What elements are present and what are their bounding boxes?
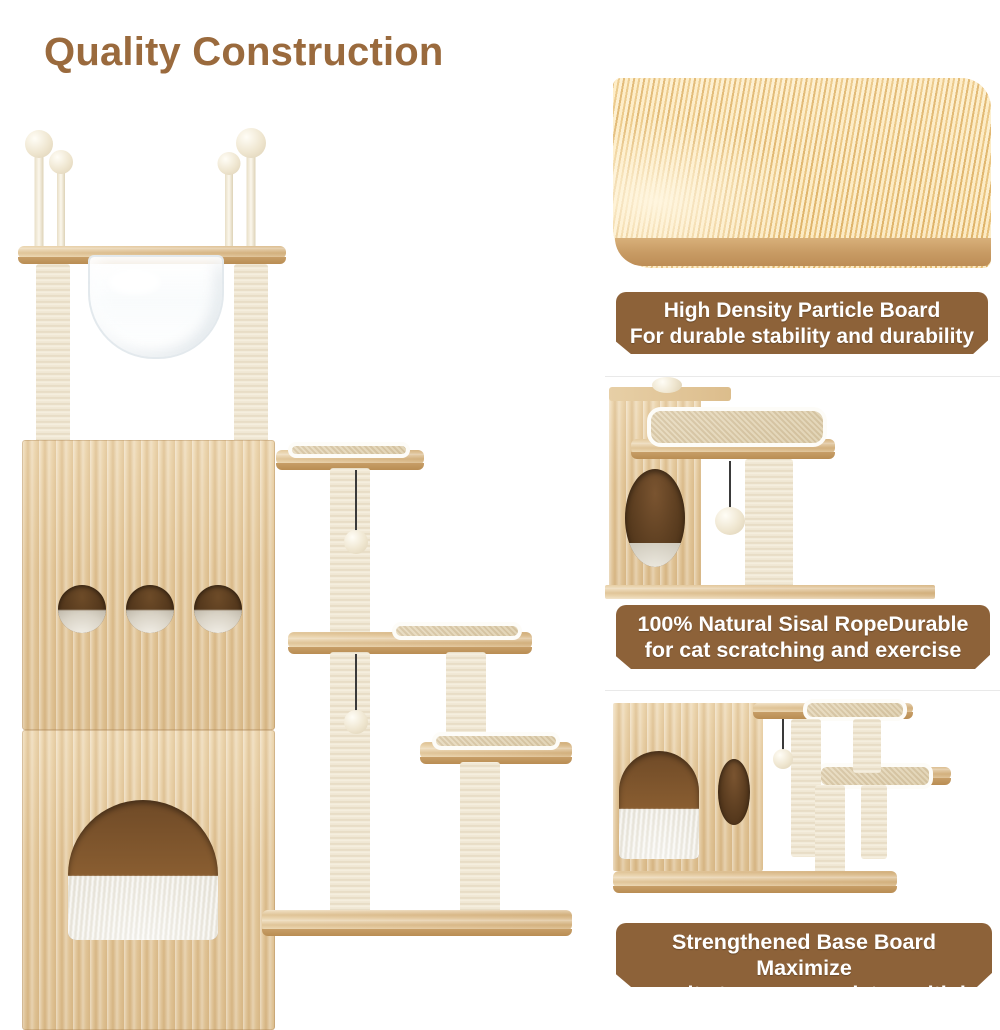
- upper-condo: [22, 440, 275, 730]
- carpet-pad: [647, 407, 827, 447]
- pompom-toy: [216, 152, 242, 254]
- base-strip: [605, 585, 935, 599]
- hanging-toy: [344, 654, 368, 744]
- plush-cushion: [619, 809, 699, 859]
- base-edge: [613, 886, 897, 893]
- toy-string: [355, 654, 357, 712]
- lower-condo: [22, 730, 275, 1030]
- pompom-toy: [48, 150, 74, 255]
- main-product-image: [0, 120, 600, 995]
- toy-ball: [344, 710, 368, 734]
- sisal-post: [36, 264, 70, 444]
- carpet-pad: [392, 622, 522, 640]
- hanging-toy: [773, 719, 793, 779]
- toy-ball: [218, 152, 241, 175]
- toy-ball: [773, 749, 793, 769]
- dome-highlight: [108, 269, 161, 295]
- play-hole: [58, 585, 106, 633]
- carpet-pad: [432, 732, 560, 750]
- panel-particle-board: High Density Particle Board For durable …: [605, 60, 1000, 375]
- condo-entrance: [619, 751, 699, 859]
- hanging-toy: [344, 470, 368, 560]
- toy-stem: [225, 167, 233, 255]
- base-board: [613, 871, 897, 893]
- sisal-post: [853, 719, 881, 773]
- base-surface: [262, 910, 572, 931]
- caption-line-1: 100% Natural Sisal RopeDurable: [624, 611, 982, 637]
- play-hole: [194, 585, 242, 633]
- caption-line-1: Strengthened Base Board Maximize: [624, 929, 984, 981]
- play-hole: [126, 585, 174, 633]
- sisal-closeup-image: [605, 377, 1000, 605]
- entrance-fur: [625, 543, 685, 568]
- carpet-pad: [803, 699, 907, 721]
- base-closeup-image: [605, 691, 1000, 919]
- toy-ball: [344, 530, 368, 554]
- board-closeup-image: [613, 78, 991, 268]
- acrylic-dome-bed: [88, 255, 224, 359]
- oval-entrance: [625, 469, 685, 567]
- platform-edge: [288, 647, 532, 654]
- caption-line-2: For durable stability and durability: [624, 324, 980, 350]
- panel-base-board: Strengthened Base Board Maximize securit…: [605, 691, 1000, 995]
- toy-stem: [35, 148, 44, 252]
- hanging-toy: [715, 461, 745, 545]
- toy-stem: [57, 166, 65, 256]
- platform-edge: [631, 452, 835, 459]
- toy-ball: [652, 377, 682, 393]
- toy-string: [782, 719, 784, 751]
- caption-line-2: for cat scratching and exercise: [624, 637, 982, 663]
- condo-entrance: [68, 800, 218, 940]
- toy-string: [729, 461, 731, 509]
- hole-fur: [194, 610, 242, 633]
- plush-cushion: [68, 876, 218, 940]
- sisal-post: [234, 264, 268, 444]
- caption-line-2: security to accommodate multiple cats: [624, 981, 984, 995]
- base-board: [262, 910, 572, 936]
- feature-panels: High Density Particle Board For durable …: [605, 60, 1000, 995]
- sisal-post: [460, 762, 500, 920]
- sisal-post: [745, 459, 793, 589]
- hole-fur: [58, 610, 106, 633]
- toy-stem: [247, 148, 256, 254]
- sisal-post: [861, 785, 887, 859]
- caption-banner-3: Strengthened Base Board Maximize securit…: [616, 923, 992, 987]
- panel-sisal-rope: 100% Natural Sisal RopeDurable for cat s…: [605, 377, 1000, 689]
- base-edge: [262, 929, 572, 936]
- toy-ball: [49, 150, 73, 174]
- side-oval-hole: [718, 759, 750, 825]
- caption-banner-2: 100% Natural Sisal RopeDurable for cat s…: [616, 605, 990, 669]
- caption-line-1: High Density Particle Board: [624, 298, 980, 324]
- carpet-pad: [288, 442, 410, 458]
- toy-ball: [715, 507, 745, 535]
- page-title: Quality Construction: [44, 30, 444, 75]
- toy-string: [355, 470, 357, 532]
- board-edge-banding: [615, 238, 991, 266]
- infographic-page: Quality Construction: [0, 0, 1000, 1000]
- hole-fur: [126, 610, 174, 633]
- caption-banner-1: High Density Particle Board For durable …: [616, 292, 988, 354]
